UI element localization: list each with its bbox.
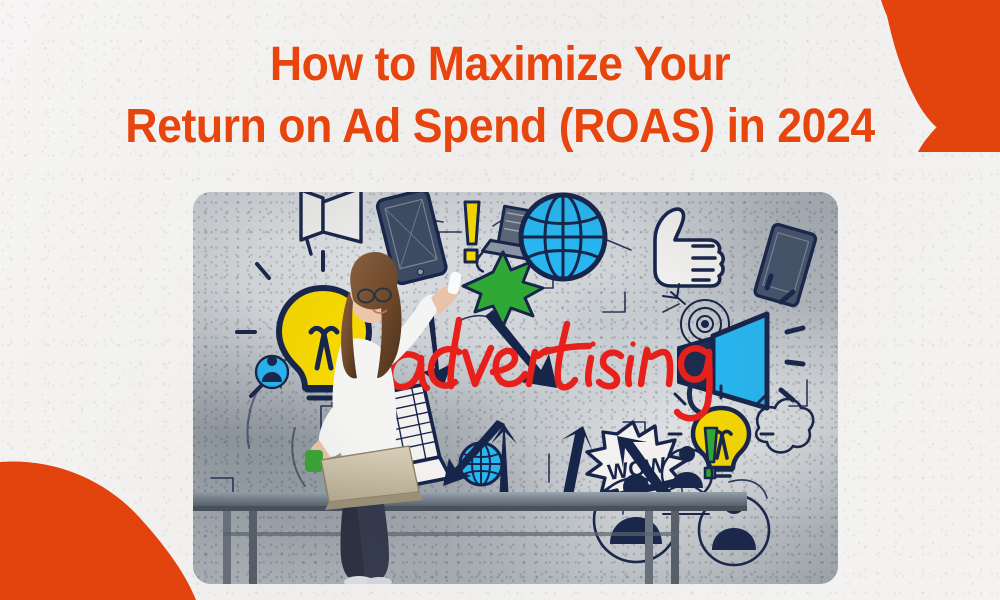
headline-line-1: How to Maximize Your	[35, 34, 965, 96]
roas-blog-banner: How to Maximize Your Return on Ad Spend …	[0, 0, 1000, 600]
orange-curved-blob-bottom-left	[0, 461, 196, 600]
hero-image-card: Woman sitting on a bench with a laptop i…	[193, 192, 838, 584]
headline-line-2: Return on Ad Spend (ROAS) in 2024	[35, 96, 965, 158]
page-title: How to Maximize Your Return on Ad Spend …	[0, 34, 1000, 158]
hero-image-vignette	[193, 192, 838, 584]
